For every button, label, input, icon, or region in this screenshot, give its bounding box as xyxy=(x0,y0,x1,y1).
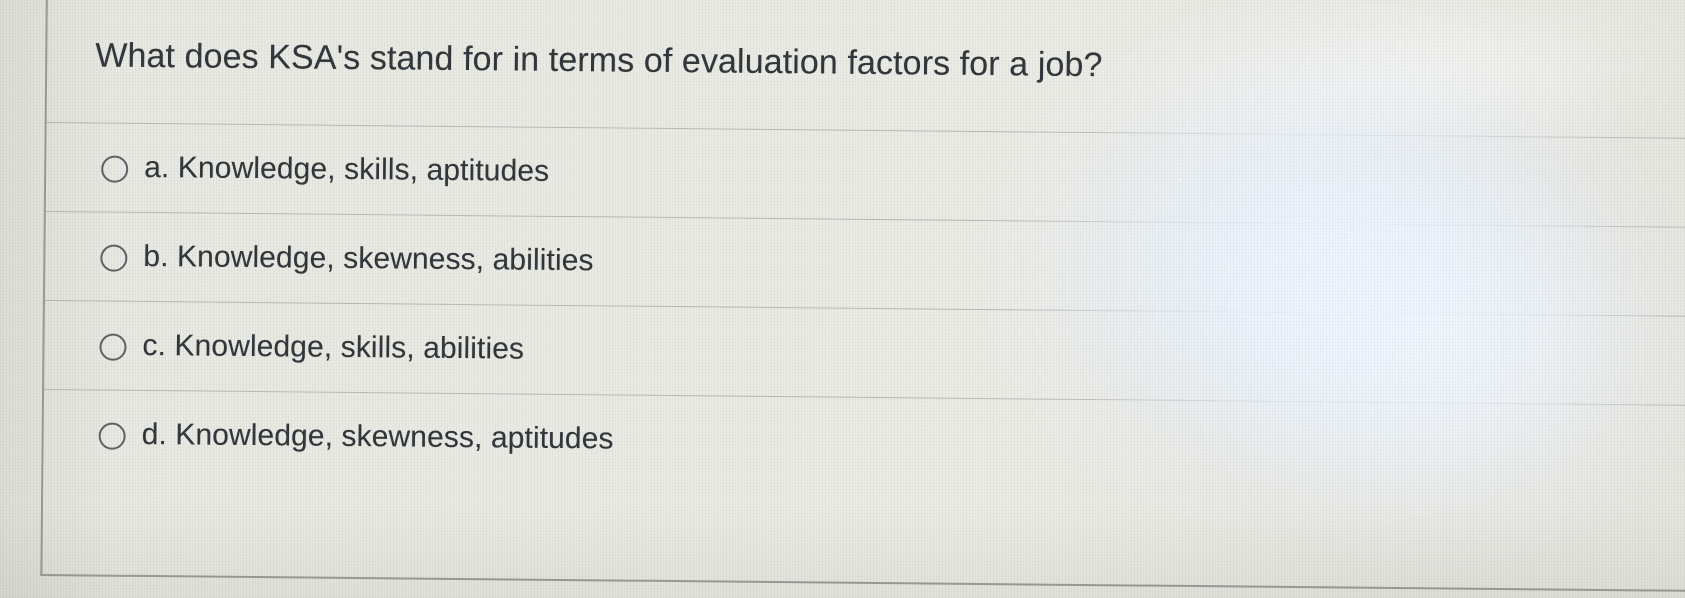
quiz-question-card: What does KSA's stand for in terms of ev… xyxy=(40,0,1685,592)
option-label-c: c. Knowledge, skills, abilities xyxy=(142,329,524,367)
option-row-a[interactable]: a. Knowledge, skills, aptitudes xyxy=(46,122,1685,227)
radio-unchecked-icon[interactable] xyxy=(100,244,127,271)
radio-unchecked-icon[interactable] xyxy=(99,422,126,449)
option-label-b: b. Knowledge, skewness, abilities xyxy=(143,240,594,278)
option-label-a: a. Knowledge, skills, aptitudes xyxy=(144,151,549,189)
option-row-c[interactable]: c. Knowledge, skills, abilities xyxy=(44,300,1685,405)
answer-options-list: a. Knowledge, skills, aptitudes b. Knowl… xyxy=(43,122,1685,494)
option-label-d: d. Knowledge, skewness, aptitudes xyxy=(141,418,613,457)
option-row-d[interactable]: d. Knowledge, skewness, aptitudes xyxy=(43,389,1685,494)
option-row-b[interactable]: b. Knowledge, skewness, abilities xyxy=(45,211,1685,316)
screen-photo-surface: What does KSA's stand for in terms of ev… xyxy=(0,0,1685,598)
radio-unchecked-icon[interactable] xyxy=(101,155,128,182)
radio-unchecked-icon[interactable] xyxy=(99,333,126,360)
question-text: What does KSA's stand for in terms of ev… xyxy=(95,34,1103,86)
